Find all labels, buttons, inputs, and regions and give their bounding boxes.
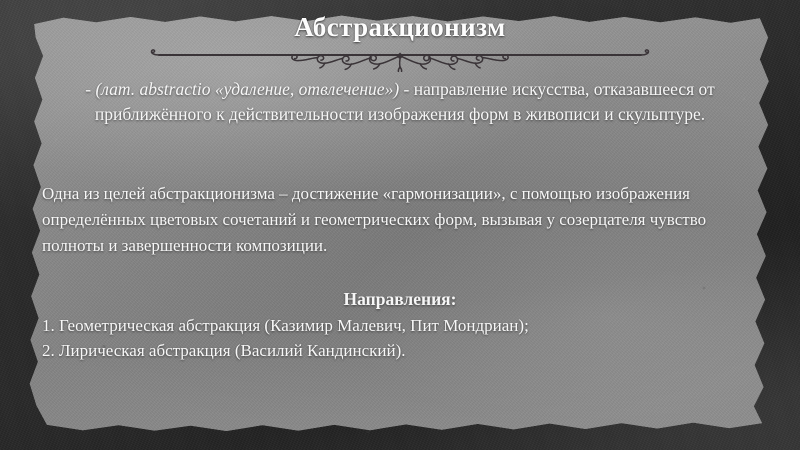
definition-latin-term: (лат. abstractio «удаление, отвлечение») — [95, 79, 399, 99]
list-item: 2. Лирическая абстракция (Василий Кандин… — [42, 338, 770, 363]
definition-paragraph: - (лат. abstractio «удаление, отвлечение… — [44, 77, 756, 127]
definition-lead: - — [85, 79, 95, 99]
slide-content: Абстракционизм — [0, 0, 800, 450]
ornamental-divider-icon — [145, 46, 655, 72]
directions-heading: Направления: — [0, 289, 800, 310]
page-title: Абстракционизм — [0, 11, 800, 43]
list-item: 1. Геометрическая абстракция (Казимир Ма… — [42, 313, 770, 338]
presentation-slide: Абстракционизм — [0, 0, 800, 450]
goal-paragraph: Одна из целей абстракционизма – достижен… — [42, 181, 770, 259]
directions-list: 1. Геометрическая абстракция (Казимир Ма… — [42, 313, 770, 363]
